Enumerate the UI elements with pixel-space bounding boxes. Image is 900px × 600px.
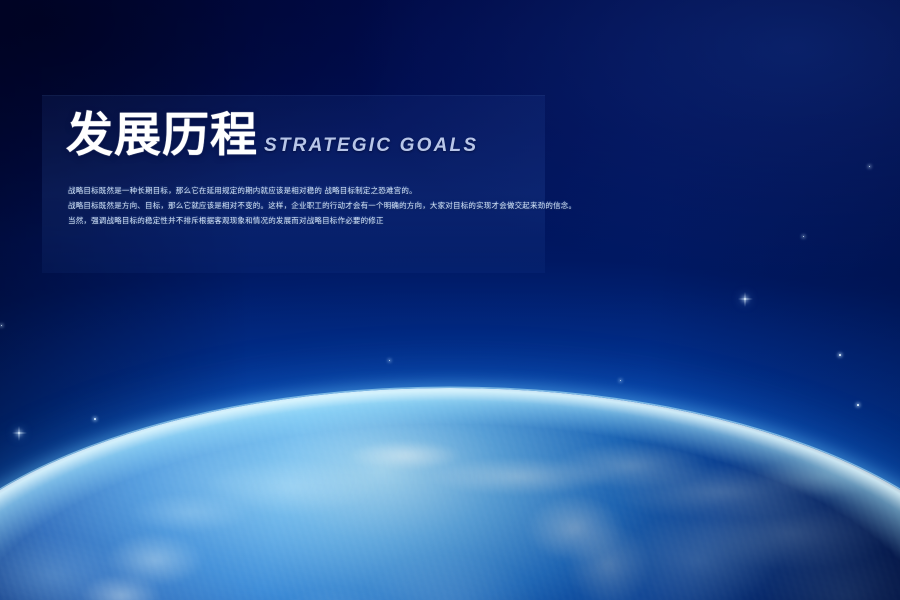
headline-group: 发展历程 STRATEGIC GOALS (66, 112, 478, 159)
star-icon (744, 298, 746, 300)
star-icon (839, 354, 841, 356)
body-paragraph: 战略目标既然是一种长期目标，那么它在延用规定的期内就应该是相对稳的 战略目标制定… (68, 186, 538, 195)
body-copy: 战略目标既然是一种长期目标，那么它在延用规定的期内就应该是相对稳的 战略目标制定… (68, 186, 538, 225)
page-subtitle: STRATEGIC GOALS (264, 136, 478, 159)
page-title: 发展历程 (66, 112, 258, 159)
star-icon (857, 404, 859, 406)
strategic-goals-banner: 发展历程 STRATEGIC GOALS 战略目标既然是一种长期目标，那么它在延… (0, 0, 900, 600)
body-paragraph: 当然，强调战略目标的稳定性并不排斥根据客观现象和情况的发展而对战略目标作必要的修… (68, 216, 538, 225)
body-paragraph: 战略目标既然是方向、目标，那么它就应该是相对不变的。这样，企业职工的行动才会有一… (68, 201, 538, 210)
